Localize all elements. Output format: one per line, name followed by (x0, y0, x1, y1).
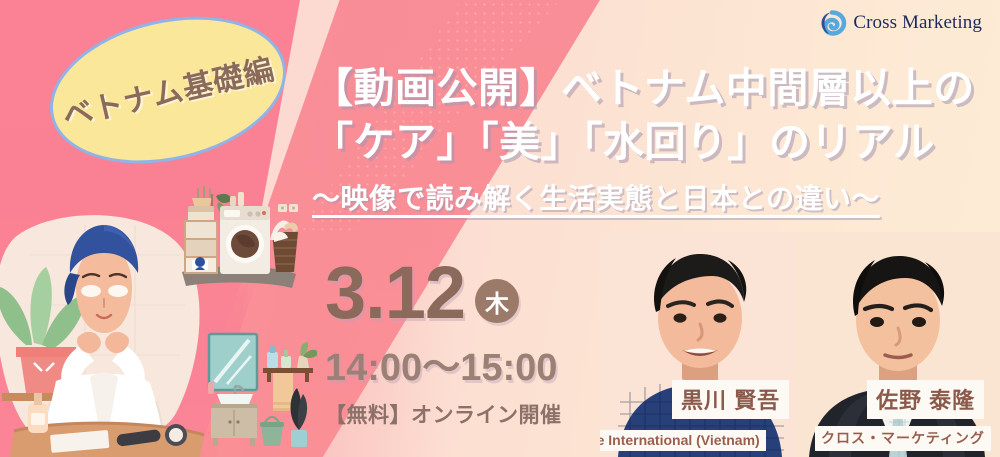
brand-logo: Cross Marketing (817, 8, 982, 38)
webinar-banner: Cross Marketing ベトナム基礎編 (0, 0, 1000, 457)
speaker-name-1: 黒川 賢吾 (672, 380, 789, 419)
speaker-card-1: 黒川 賢吾 Kadence International (Vietnam) (600, 232, 800, 457)
speaker-org-1: Kadence International (Vietnam) (600, 430, 766, 451)
title-line-1: 【動画公開】ベトナム中間層以上の (312, 62, 990, 114)
bathroom-vanity-illustration (205, 330, 317, 455)
date-row: 3.12 木 (325, 258, 562, 328)
laundry-room-illustration (178, 182, 300, 297)
title-block: 【動画公開】ベトナム中間層以上の 「ケア」「美」「水回り」のリアル 〜映像で読み… (312, 62, 990, 217)
event-format: 【無料】オンライン開催 (325, 399, 562, 429)
event-time: 14:00〜15:00 (325, 336, 562, 391)
title-subtitle: 〜映像で読み解く生活実態と日本との違い〜 (312, 177, 990, 217)
event-date: 3.12 (325, 258, 465, 328)
speaker-name-2: 佐野 泰隆 (867, 380, 984, 419)
schedule-block: 3.12 木 14:00〜15:00 【無料】オンライン開催 (325, 258, 562, 429)
speaker-portrait-sano (795, 232, 1000, 457)
speaker-card-2: 佐野 泰隆 クロス・マーケティング (795, 232, 1000, 457)
speaker-portrait-kurokawa (600, 232, 800, 457)
weekday-badge: 木 (475, 279, 519, 323)
title-line-2: 「ケア」「美」「水回り」のリアル (312, 116, 990, 168)
speaker-org-2: クロス・マーケティング (815, 426, 991, 451)
brand-logo-text: Cross Marketing (853, 12, 982, 34)
swoosh-icon (817, 8, 847, 38)
